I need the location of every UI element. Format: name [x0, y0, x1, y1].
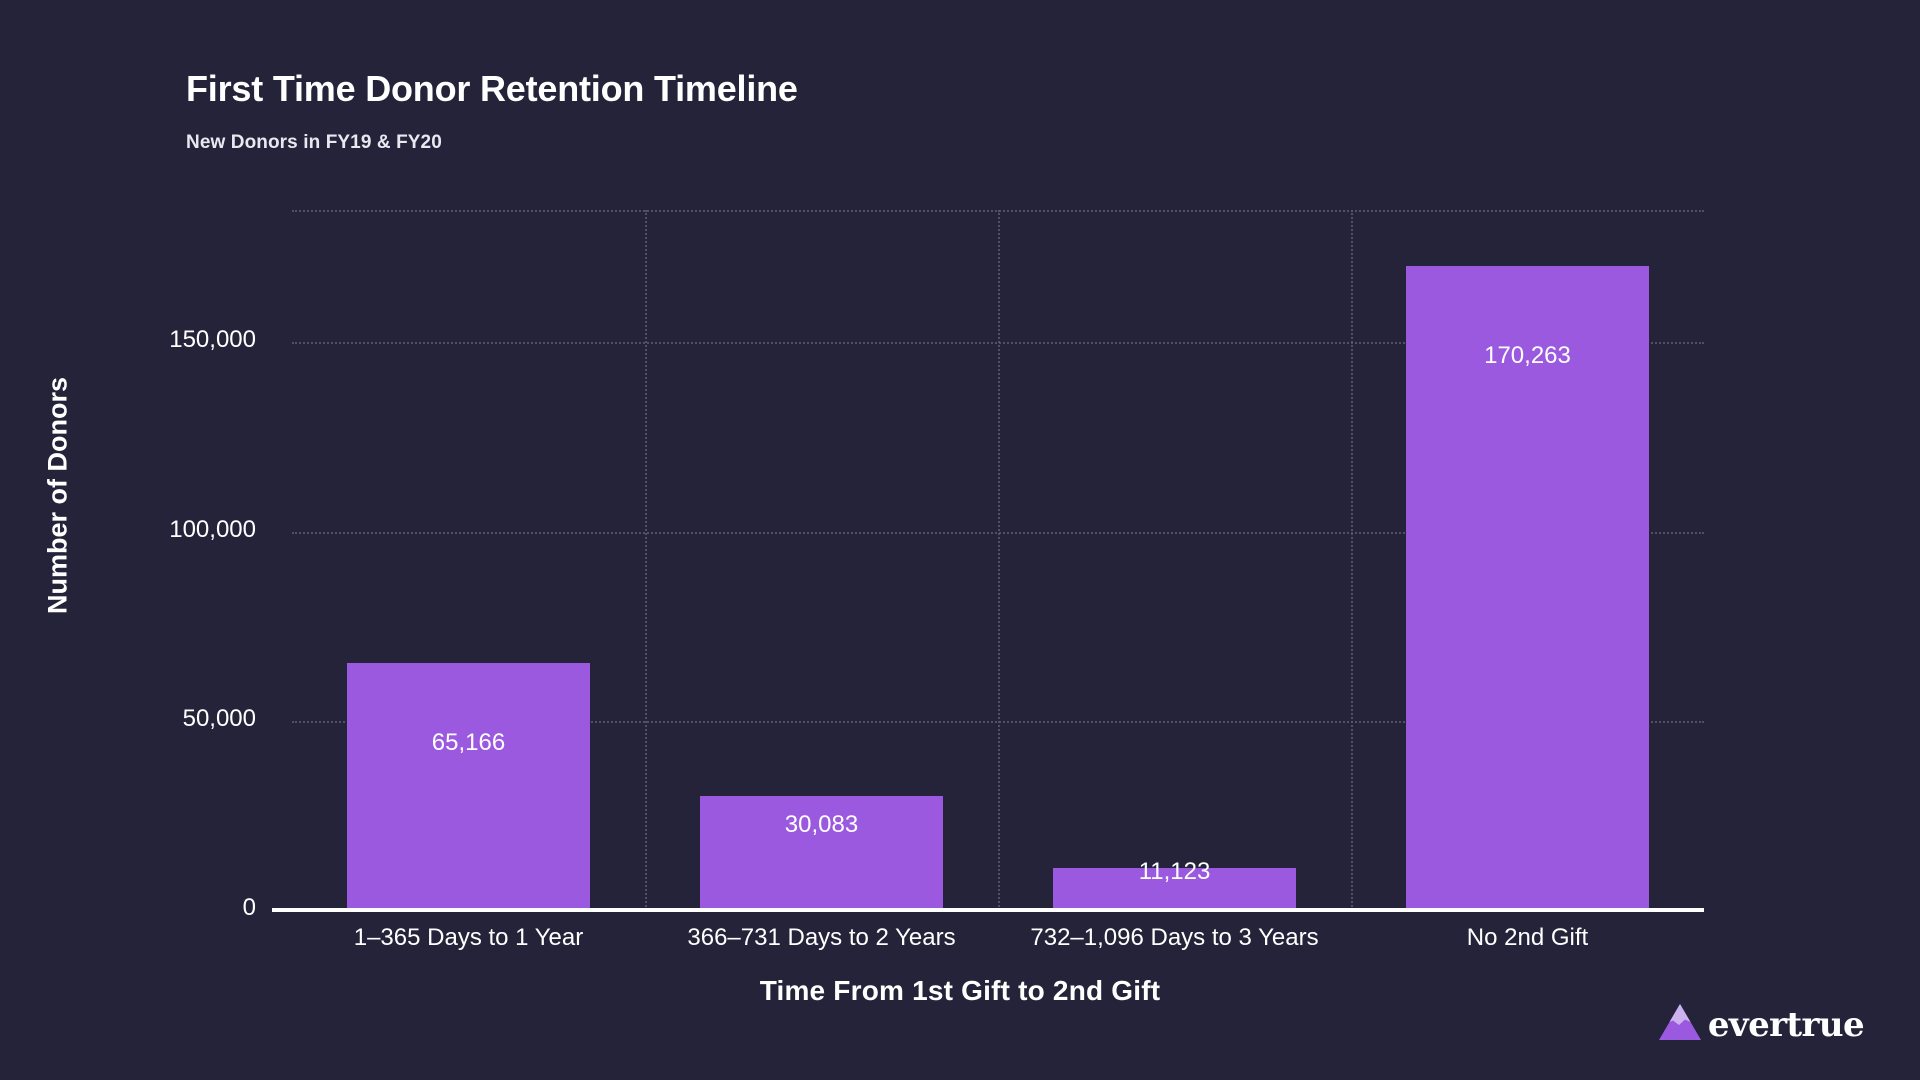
- bar-value-label-2: 11,123: [1053, 858, 1296, 886]
- bar-0[interactable]: 65,166: [347, 663, 590, 910]
- chart-canvas: First Time Donor Retention Timeline New …: [0, 0, 1920, 1080]
- y-tick-label-3: 150,000: [56, 326, 256, 354]
- bar-rect-0[interactable]: [347, 663, 590, 910]
- x-axis-start-tick: [272, 908, 294, 912]
- page-title: First Time Donor Retention Timeline: [186, 68, 798, 110]
- x-axis-title: Time From 1st Gift to 2nd Gift: [0, 975, 1920, 1007]
- logo-wordmark: evertrue: [1708, 1008, 1864, 1042]
- y-tick-label-0: 0: [56, 894, 256, 922]
- y-tick-label-1: 50,000: [56, 705, 256, 733]
- bar-value-label-0: 65,166: [347, 729, 590, 757]
- x-axis-line: [292, 908, 1704, 912]
- bar-3[interactable]: 170,263: [1406, 266, 1649, 910]
- bar-2[interactable]: 11,123: [1053, 868, 1296, 910]
- plot-area: 65,16630,08311,123170,263: [292, 210, 1704, 910]
- evertrue-logo: evertrue: [1658, 1003, 1864, 1046]
- bars-layer: 65,16630,08311,123170,263: [292, 210, 1704, 910]
- y-tick-label-2: 100,000: [56, 516, 256, 544]
- bar-value-label-1: 30,083: [700, 811, 943, 839]
- bar-value-label-3: 170,263: [1406, 342, 1649, 370]
- mountain-triangle-icon: [1658, 1003, 1702, 1046]
- bar-1[interactable]: 30,083: [700, 796, 943, 910]
- chart-subtitle: New Donors in FY19 & FY20: [186, 132, 442, 154]
- x-tick-label-3: No 2nd Gift: [1228, 924, 1828, 952]
